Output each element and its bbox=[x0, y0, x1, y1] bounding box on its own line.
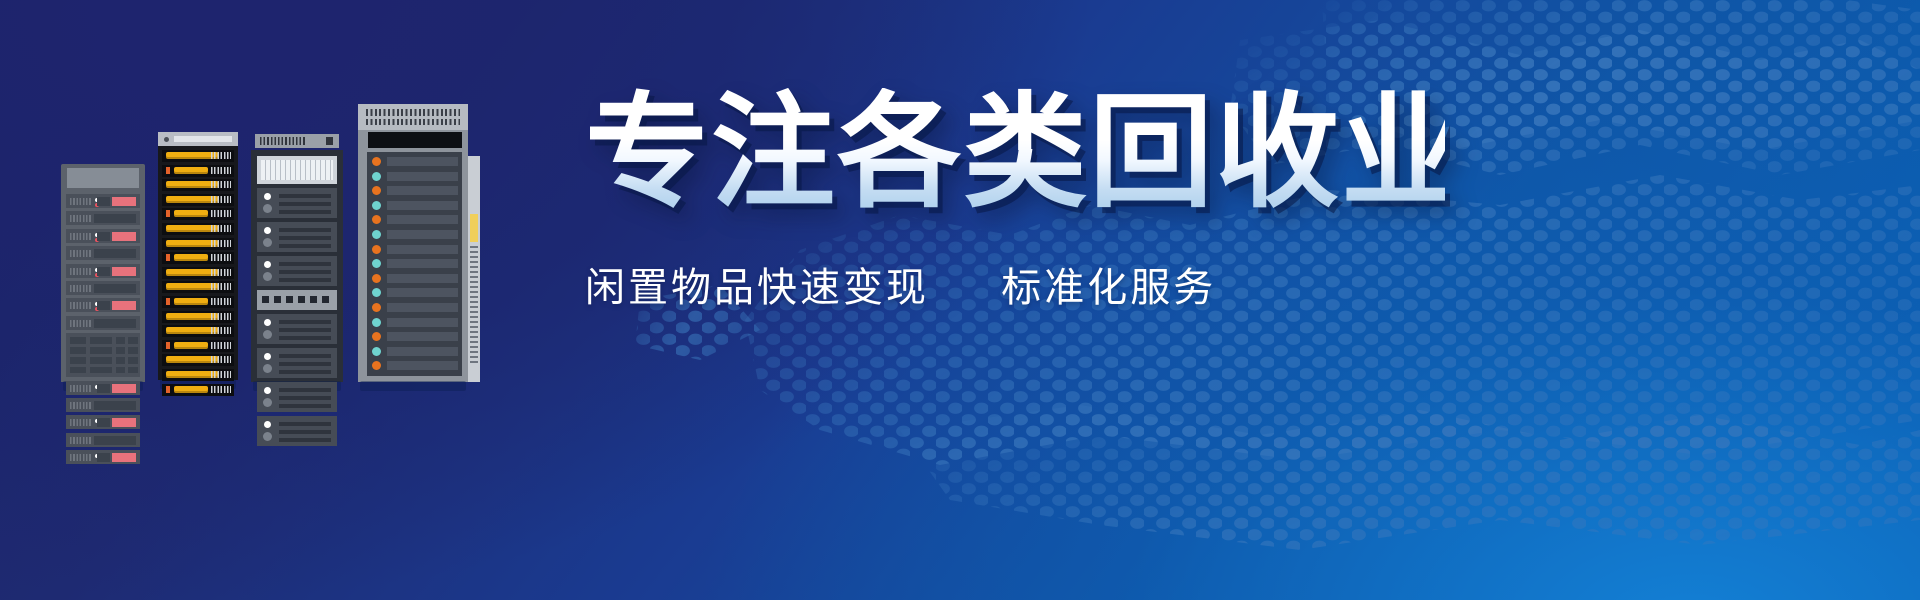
rack-grey-red-leds bbox=[61, 164, 145, 382]
rack-silver-orange-teal-leds bbox=[358, 130, 468, 382]
rack-top-panel bbox=[67, 168, 139, 188]
subtitle-part-1: 闲置物品快速变现 bbox=[585, 266, 929, 310]
led-column bbox=[372, 157, 383, 371]
rack-shadow bbox=[360, 381, 466, 391]
rack-slot bbox=[368, 132, 462, 148]
unit-rows bbox=[387, 157, 458, 371]
rack-top-panel bbox=[255, 134, 339, 148]
rack-top-panel bbox=[358, 104, 468, 130]
rack-dark-white-leds bbox=[251, 150, 343, 382]
server-racks-illustration bbox=[46, 120, 516, 390]
rack-side-panel bbox=[468, 156, 480, 382]
page-title: 专注各类回收业务 bbox=[585, 88, 1445, 219]
patch-panel bbox=[66, 333, 140, 377]
rack-units bbox=[257, 156, 337, 377]
banner-subtitle: 闲置物品快速变现 标准化服务 bbox=[585, 255, 1445, 313]
subtitle-part-2: 标准化服务 bbox=[1001, 266, 1216, 310]
rack-units bbox=[367, 152, 462, 376]
vent-grille bbox=[257, 156, 337, 184]
promo-banner: 专注各类回收业务 闲置物品快速变现 标准化服务 bbox=[0, 0, 1920, 600]
rack-top-panel bbox=[158, 132, 238, 146]
banner-copy: 专注各类回收业务 闲置物品快速变现 标准化服务 bbox=[585, 88, 1445, 313]
rack-units bbox=[162, 150, 234, 376]
port-row bbox=[257, 290, 337, 310]
rack-units bbox=[66, 194, 140, 378]
rack-black-amber-bays bbox=[158, 144, 238, 380]
